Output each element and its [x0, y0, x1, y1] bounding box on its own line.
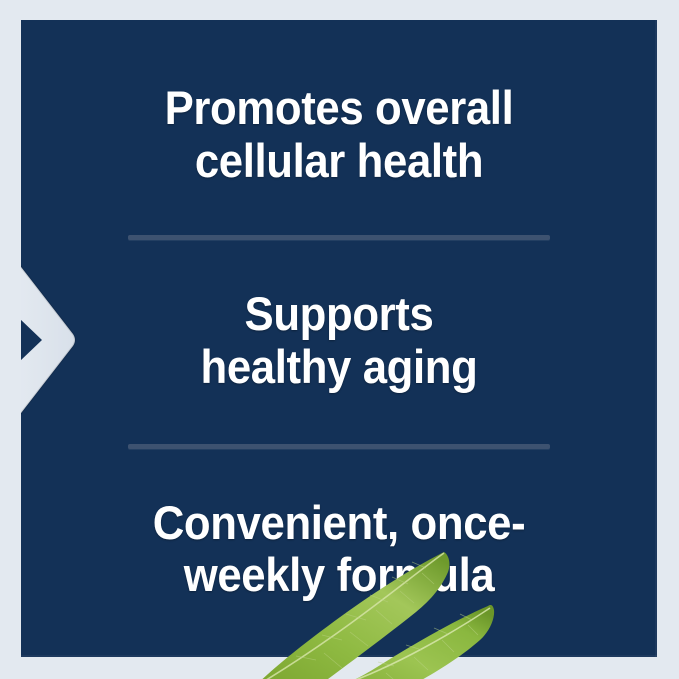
benefit-item-1: Promotes overall cellular health [43, 82, 634, 187]
benefit-item-2: Supports healthy aging [43, 288, 634, 393]
frame-right-margin [657, 0, 679, 679]
benefits-list: Promotes overall cellular health Support… [21, 20, 657, 657]
benefit-item-3: Convenient, once- weekly formula [43, 497, 634, 602]
product-benefits-graphic: Promotes overall cellular health Support… [0, 0, 679, 679]
frame-top-margin [0, 0, 679, 20]
frame-left-margin [0, 0, 21, 679]
benefit-divider-1 [128, 235, 550, 240]
benefit-divider-2 [128, 444, 550, 449]
navy-panel: Promotes overall cellular health Support… [21, 20, 657, 657]
